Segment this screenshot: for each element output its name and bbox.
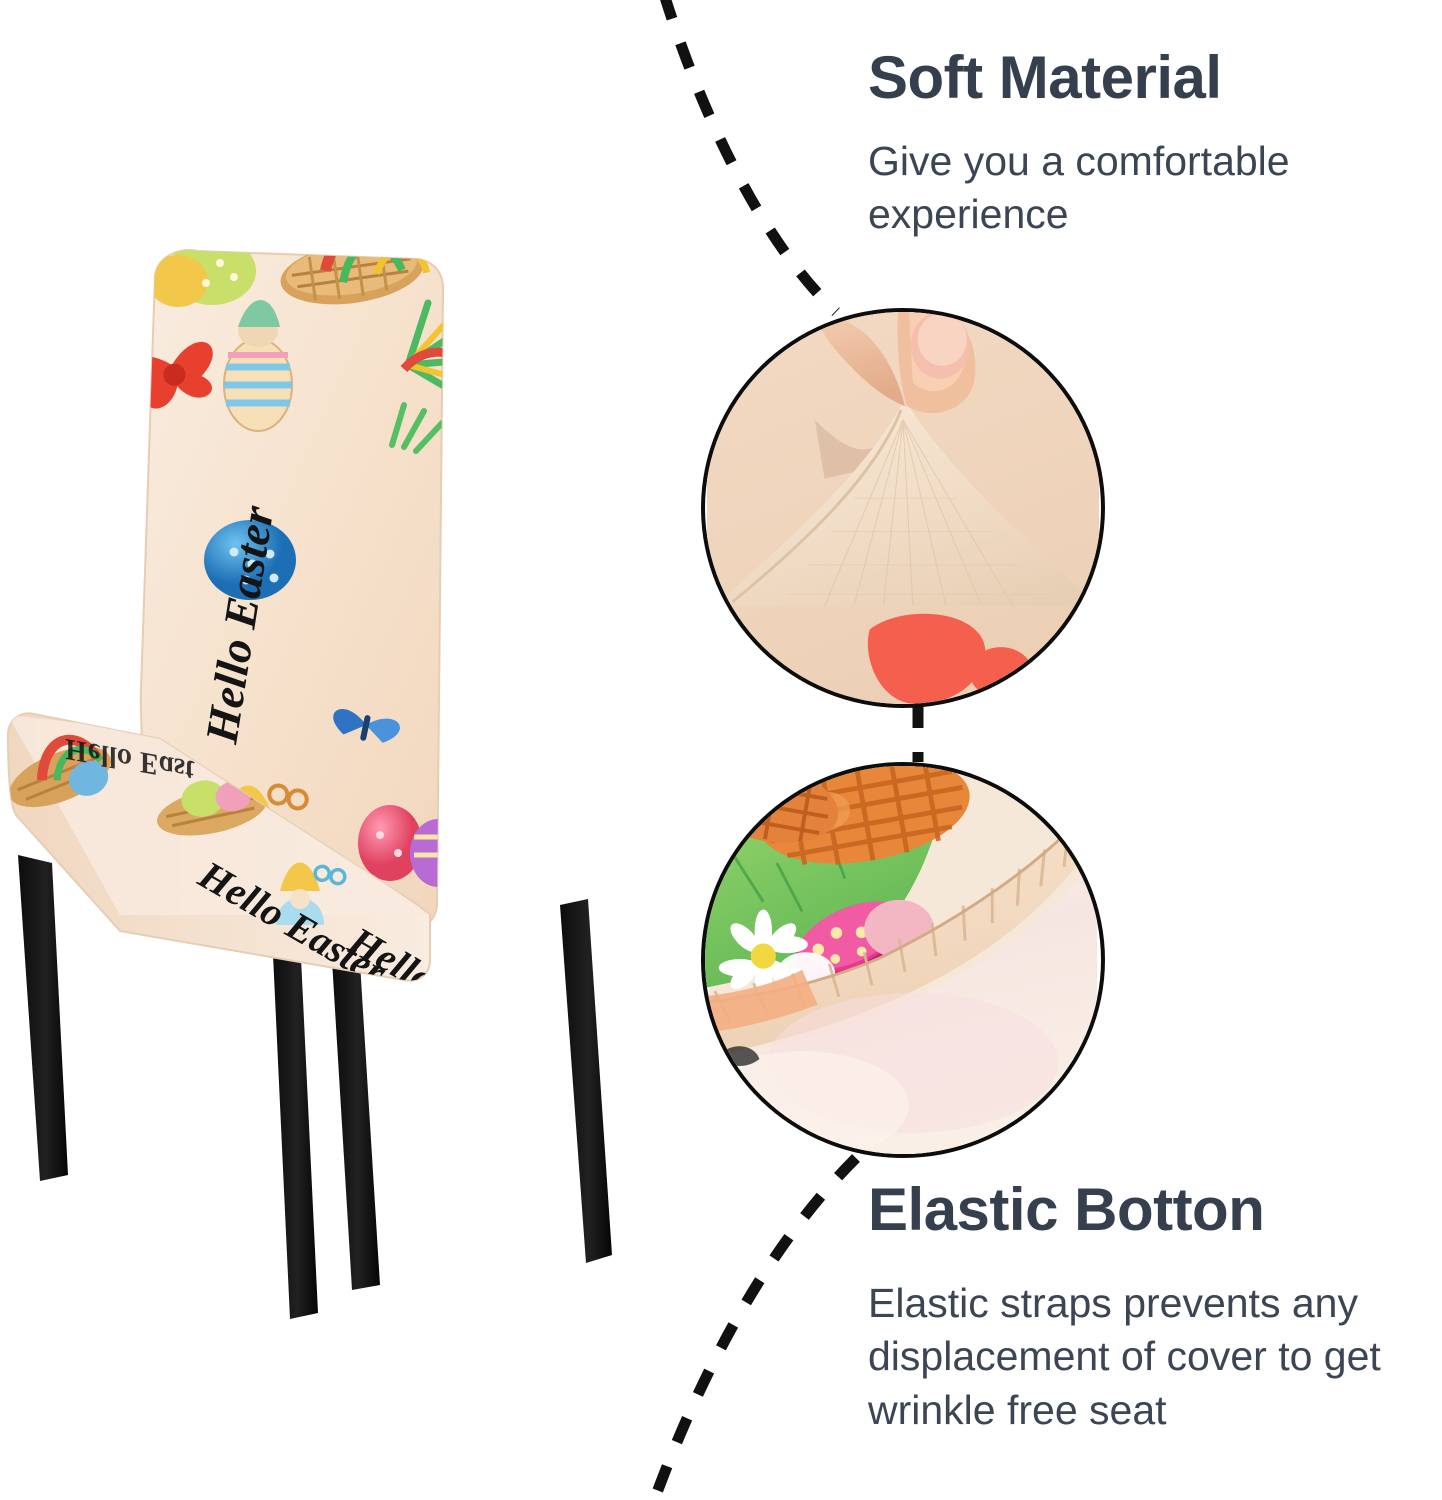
soft-material-description: Give you a comfortable experience: [868, 135, 1380, 242]
feature-block-soft-material: Soft Material Give you a comfortable exp…: [868, 46, 1380, 242]
callout-elastic-bottom-photo: [701, 762, 1105, 1158]
teal-butterfly: [26, 226, 88, 266]
feature-block-elastic-bottom: Elastic Botton Elastic straps prevents a…: [868, 1178, 1440, 1437]
chair-with-cover-illustration: Hello Easter: [0, 215, 690, 1325]
elastic-bottom-description: Elastic straps prevents any displacement…: [868, 1277, 1440, 1437]
callout-soft-material-photo: [701, 308, 1105, 708]
svg-text:Hello Easter: Hello Easter: [341, 917, 545, 1061]
soft-material-heading: Soft Material: [868, 46, 1380, 109]
infographic-canvas: Hello Easter: [0, 0, 1442, 1500]
green-butterfly: [63, 616, 138, 658]
elastic-bottom-heading: Elastic Botton: [868, 1178, 1440, 1241]
